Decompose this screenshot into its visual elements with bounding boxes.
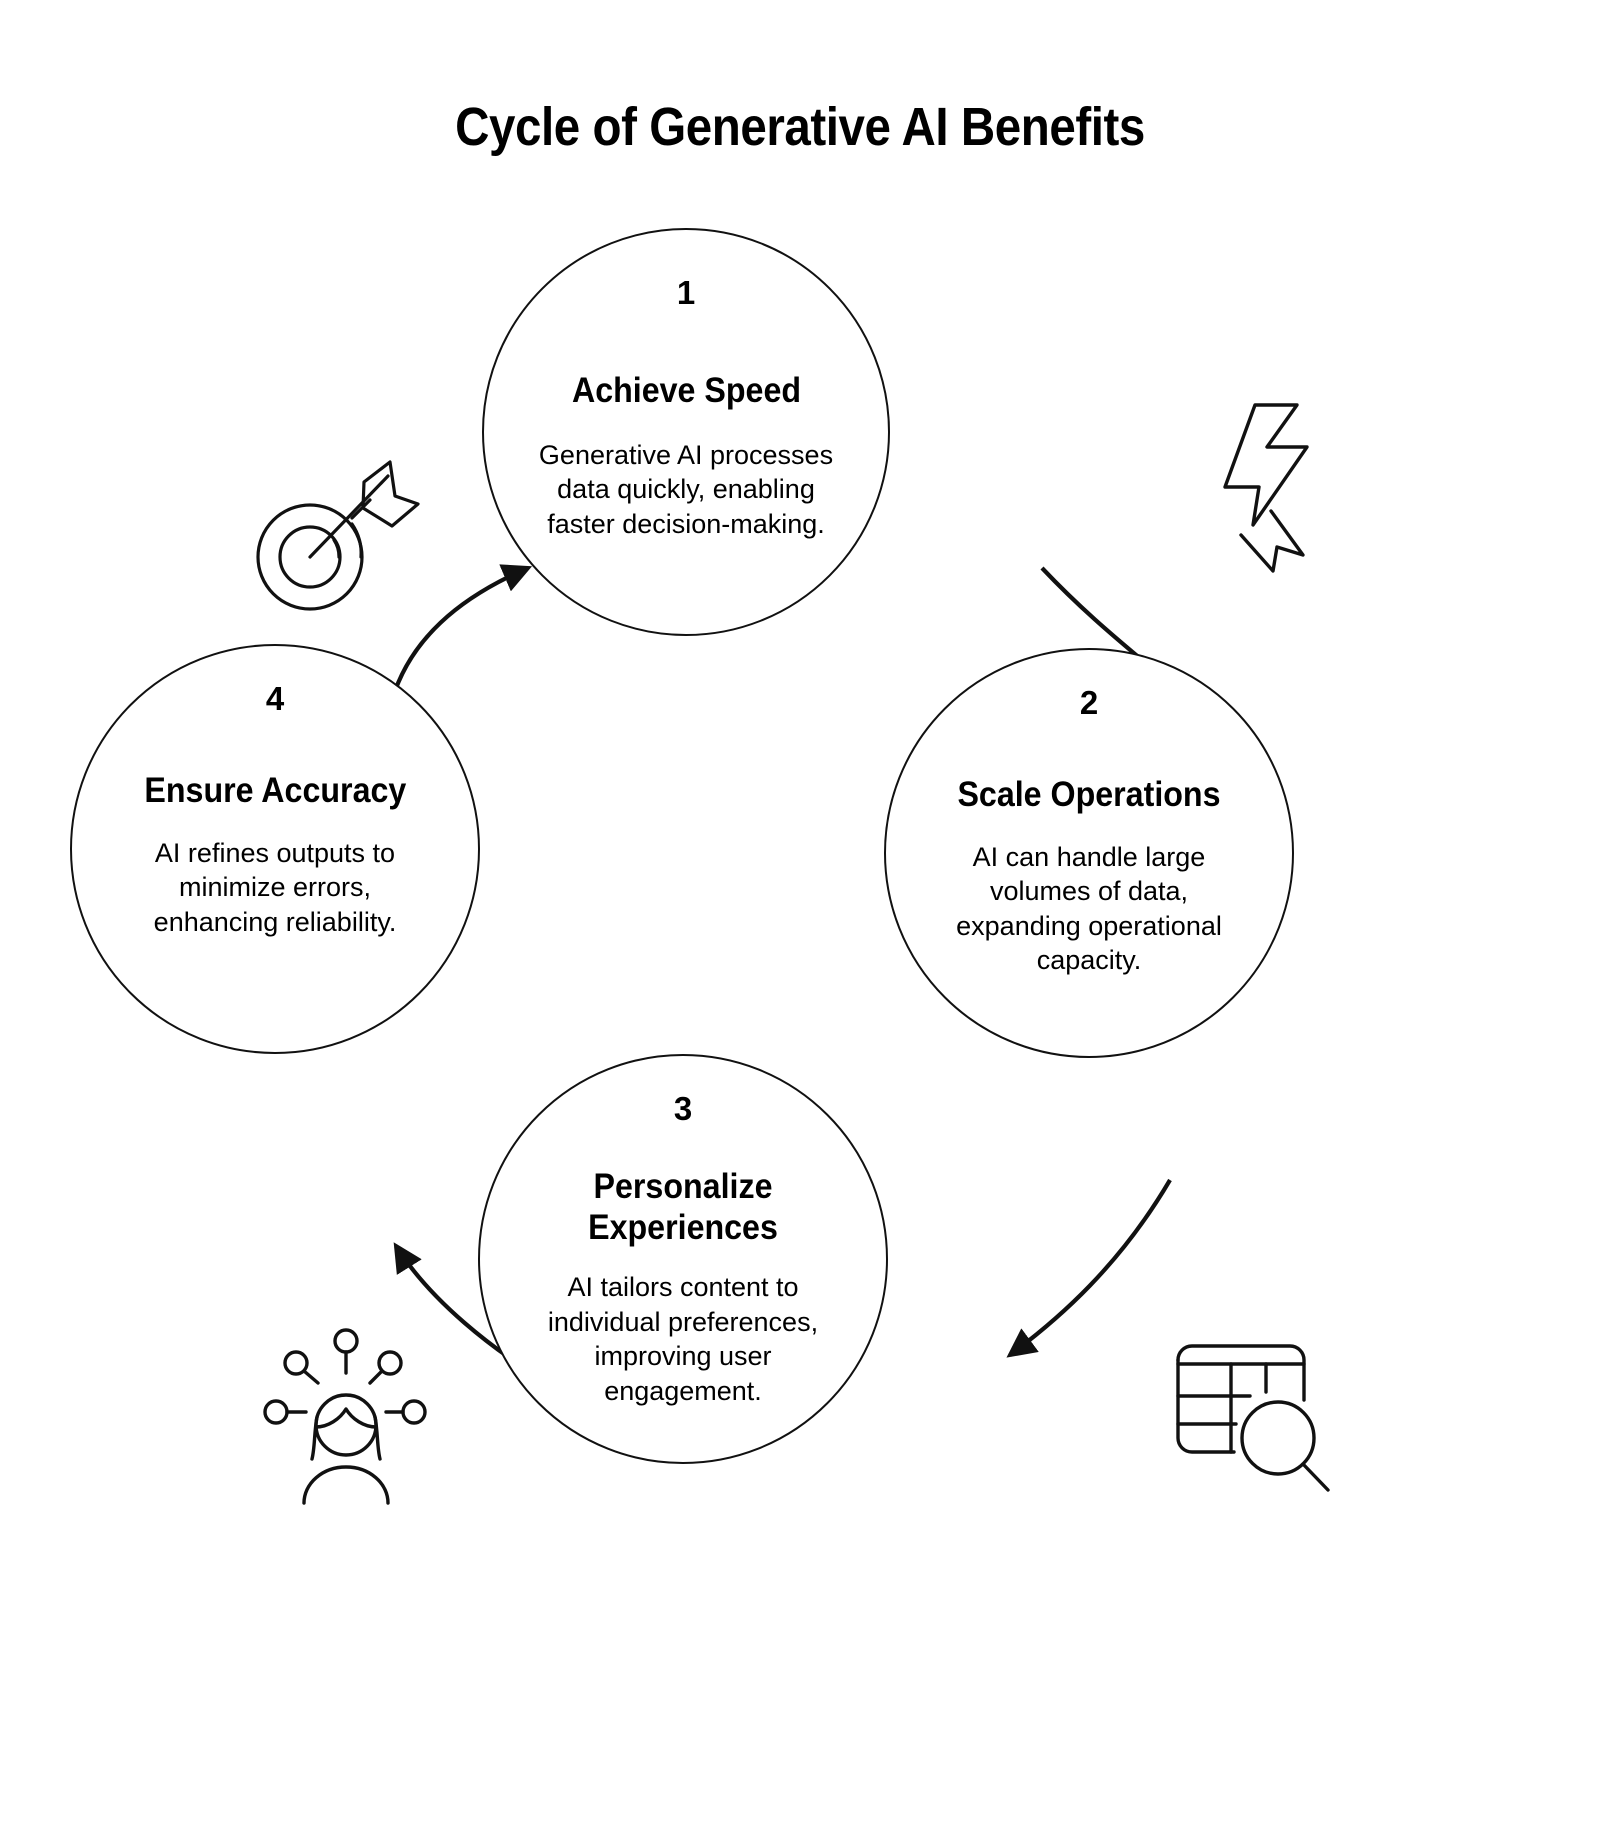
node-title: Ensure Accuracy [144, 771, 406, 812]
arrow-2-to-3 [1010, 1180, 1170, 1355]
data-table-search-icon [1158, 1320, 1358, 1515]
node-number: 4 [266, 682, 284, 715]
node-title: Scale Operations [957, 775, 1220, 816]
node-number: 2 [1080, 686, 1098, 719]
node-description: Generative AI processes data quickly, en… [521, 438, 851, 542]
node-description: AI refines outputs to minimize errors, e… [120, 836, 430, 940]
cycle-node-4[interactable]: 4 Ensure Accuracy AI refines outputs to … [70, 644, 480, 1054]
page-title: Cycle of Generative AI Benefits [96, 96, 1504, 158]
diagram-canvas: Cycle of Generative AI Benefits 1 Achiev… [0, 0, 1600, 1840]
node-description: AI tailors content to individual prefere… [523, 1270, 843, 1408]
lightning-bolt-icon [1205, 395, 1365, 580]
cycle-node-1[interactable]: 1 Achieve Speed Generative AI processes … [482, 228, 890, 636]
personalization-network-icon [258, 1325, 453, 1520]
cycle-node-2[interactable]: 2 Scale Operations AI can handle large v… [884, 648, 1294, 1058]
target-arrow-icon [232, 452, 422, 622]
node-number: 3 [674, 1092, 692, 1125]
node-title: Achieve Speed [571, 371, 800, 412]
cycle-node-3[interactable]: 3 Personalize Experiences AI tailors con… [478, 1054, 888, 1464]
node-title: Personalize Experiences [563, 1167, 802, 1248]
node-number: 1 [677, 276, 695, 309]
node-description: AI can handle large volumes of data, exp… [939, 840, 1239, 978]
